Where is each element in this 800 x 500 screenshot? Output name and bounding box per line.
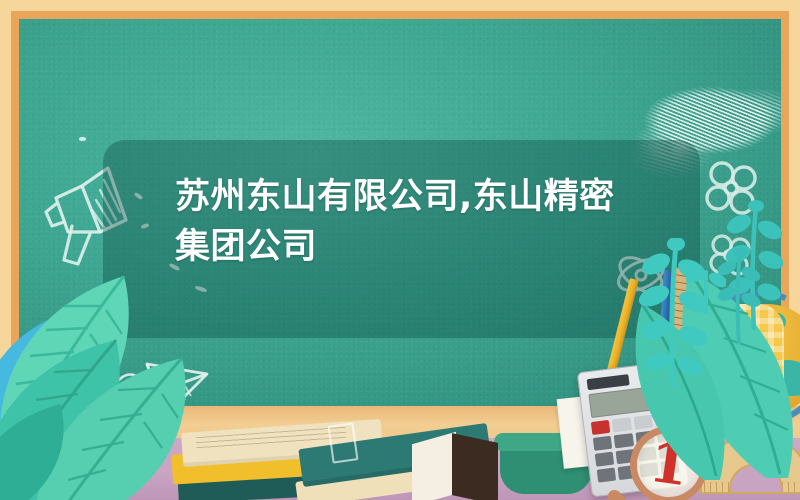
sprout-icon — [686, 250, 726, 314]
page-title: 苏州东山有限公司,东山精密集团公司 — [175, 172, 645, 272]
book-emblem — [327, 422, 358, 463]
open-book-icon — [412, 434, 498, 500]
leaf-icon — [0, 400, 82, 500]
chalk-speck — [79, 137, 86, 141]
banner-canvas: 苏州东山有限公司,东山精密集团公司 — [0, 0, 800, 500]
